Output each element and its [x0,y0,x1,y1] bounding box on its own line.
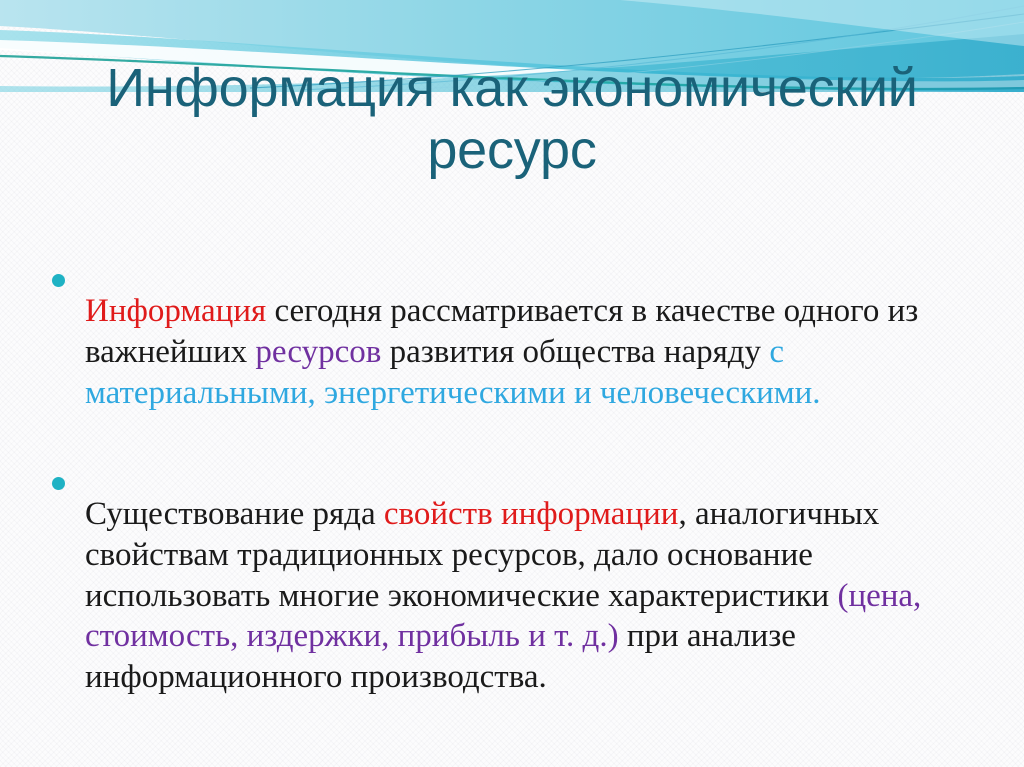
bullet-2-segment-1: Существование ряда [85,496,384,532]
list-item: Существование ряда свойств информации, а… [52,461,982,732]
page-title: Информация как экономический ресурс [60,58,964,181]
title-block: Информация как экономический ресурс [60,58,964,181]
bullet-2-segment-2: свойств информации [384,496,679,532]
bullet-1-segment-4: развития общества наряду [381,334,769,370]
slide: Информация как экономический ресурс Инфо… [0,0,1024,767]
bullet-dot-icon [52,274,65,287]
wave-highlight-ribbon [620,0,1024,46]
list-item: Информация сегодня рассматривается в кач… [52,258,982,447]
bullet-dot-icon [52,477,65,490]
bullet-text-1: Информация сегодня рассматривается в кач… [85,291,982,414]
bullet-1-segment-3: ресурсов [255,334,381,370]
bullet-list: Информация сегодня рассматривается в кач… [52,258,982,745]
bullet-text-2: Существование ряда свойств информации, а… [85,494,982,699]
bullet-1-segment-1: Информация [85,293,266,329]
